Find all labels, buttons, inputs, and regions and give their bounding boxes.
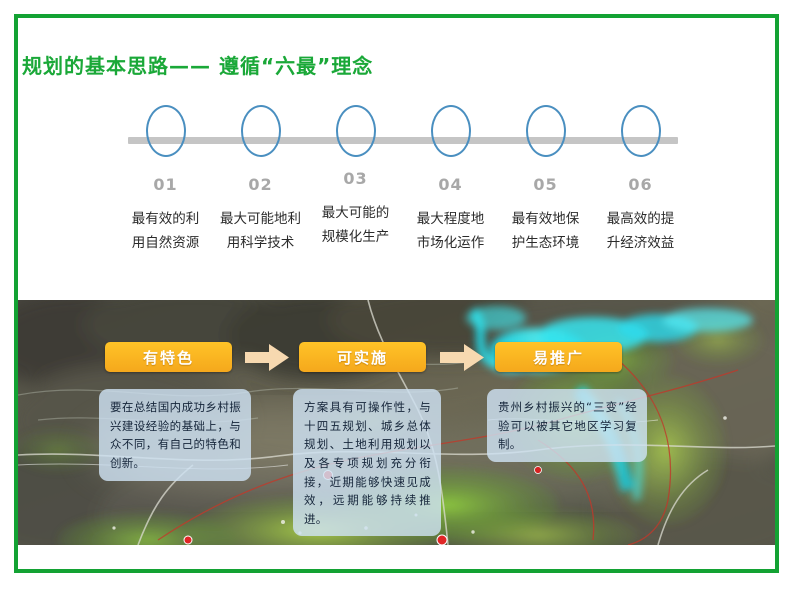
timeline-step-05[interactable]: 05 最有效地保 护生态环境	[498, 105, 593, 255]
timeline-step-03[interactable]: 03 最大可能的 规模化生产	[308, 105, 403, 249]
timeline-step-label-03: 最大可能的 规模化生产	[308, 202, 403, 249]
six-most-timeline: 01 最有效的利 用自然资源 02 最大可能地利 用科学技术 03 最大可能的 …	[118, 105, 688, 275]
slide-root: 规划的基本思路—— 遵循“六最”理念 01 最有效的利 用自然资源 02 最大可…	[0, 0, 800, 593]
timeline-step-label-06: 最高效的提 升经济效益	[593, 208, 688, 255]
timeline-step-02[interactable]: 02 最大可能地利 用科学技术	[213, 105, 308, 255]
arrow-right-icon-2	[440, 344, 484, 371]
timeline-step-04[interactable]: 04 最大程度地 市场化运作	[403, 105, 498, 255]
flow-callout-3: 贵州乡村振兴的“三变”经验可以被其它地区学习复制。	[487, 389, 647, 462]
timeline-step-number-05: 05	[498, 175, 593, 194]
circle-icon-03	[336, 105, 376, 157]
timeline-step-number-02: 02	[213, 175, 308, 194]
flow-banner-1-label: 有特色	[143, 347, 194, 368]
arrow-right-icon-1	[245, 344, 289, 371]
flow-callout-1: 要在总结国内成功乡村振兴建设经验的基础上，与众不同，有自己的特色和创新。	[99, 389, 251, 481]
page-title-text: 规划的基本思路—— 遵循“六最”理念	[22, 50, 373, 79]
circle-icon-06	[621, 105, 661, 157]
circle-icon-05	[526, 105, 566, 157]
timeline-step-label-05: 最有效地保 护生态环境	[498, 208, 593, 255]
timeline-step-number-03: 03	[308, 169, 403, 188]
flow-banner-3[interactable]: 易推广	[495, 342, 622, 372]
flow-banner-2-label: 可实施	[337, 347, 388, 368]
flow-banner-2[interactable]: 可实施	[299, 342, 426, 372]
circle-icon-01	[146, 105, 186, 157]
flow-callout-2: 方案具有可操作性，与十四五规划、城乡总体规划、土地利用规划以及各专项规划充分衔接…	[293, 389, 441, 536]
timeline-step-label-04: 最大程度地 市场化运作	[403, 208, 498, 255]
timeline-step-label-02: 最大可能地利 用科学技术	[213, 208, 308, 255]
circle-icon-04	[431, 105, 471, 157]
timeline-step-label-01: 最有效的利 用自然资源	[118, 208, 213, 255]
timeline-step-number-04: 04	[403, 175, 498, 194]
circle-icon-02	[241, 105, 281, 157]
page-title: 规划的基本思路—— 遵循“六最”理念	[22, 50, 373, 79]
timeline-step-01[interactable]: 01 最有效的利 用自然资源	[118, 105, 213, 255]
flow-banner-3-label: 易推广	[533, 347, 584, 368]
timeline-step-06[interactable]: 06 最高效的提 升经济效益	[593, 105, 688, 255]
timeline-step-number-01: 01	[118, 175, 213, 194]
flow-banner-1[interactable]: 有特色	[105, 342, 232, 372]
timeline-step-number-06: 06	[593, 175, 688, 194]
